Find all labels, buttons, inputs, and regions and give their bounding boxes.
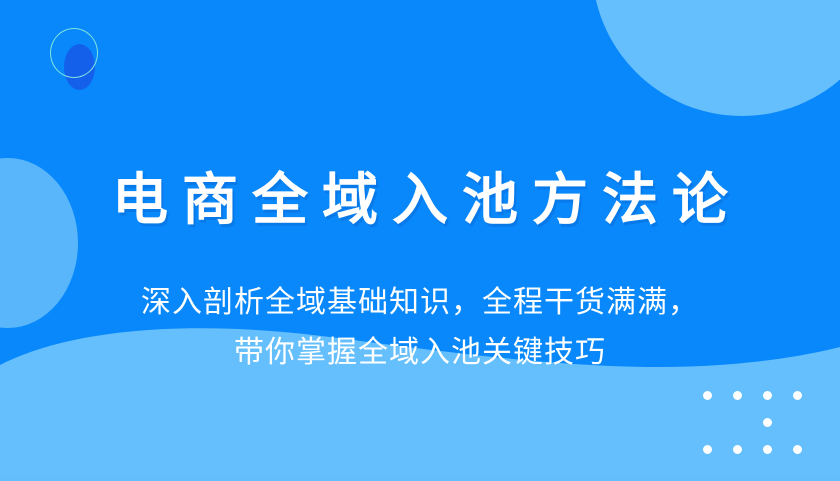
banner-subtitle-line-1: 深入剖析全域基础知识，全程干货满满， <box>0 278 840 328</box>
banner-subtitle: 深入剖析全域基础知识，全程干货满满， 带你掌握全域入池关键技巧 <box>0 278 840 378</box>
banner-subtitle-line-2: 带你掌握全域入池关键技巧 <box>0 328 840 378</box>
banner-title: 电商全域入池方法论 <box>0 169 840 231</box>
course-banner: 电商全域入池方法论 深入剖析全域基础知识，全程干货满满， 带你掌握全域入池关键技… <box>0 0 840 481</box>
banner-content: 电商全域入池方法论 深入剖析全域基础知识，全程干货满满， 带你掌握全域入池关键技… <box>0 0 840 481</box>
